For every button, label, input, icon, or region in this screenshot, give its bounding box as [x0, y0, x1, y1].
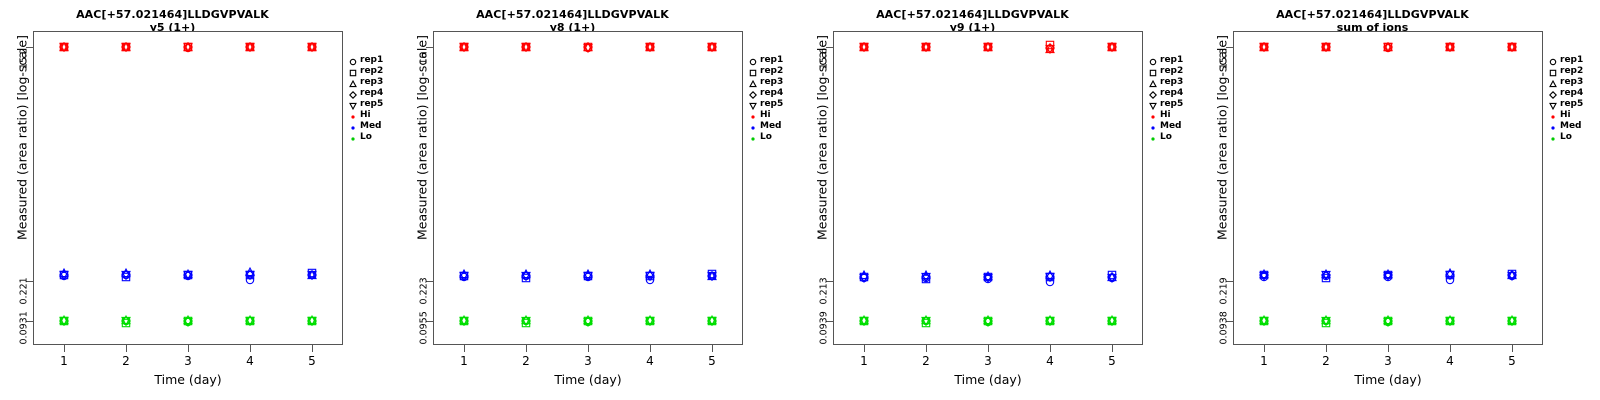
legend-item-label: Lo [358, 132, 372, 143]
legend-item-label: Lo [1158, 132, 1172, 143]
multi-panel-scatter-figure: AAC[+57.021464]LLDGVPVALKy5 (1+)Measured… [0, 0, 1600, 400]
dot-marker-icon [1147, 132, 1158, 143]
legend-item-rep5: rep5 [747, 98, 799, 109]
panel-4: AAC[+57.021464]LLDGVPVALKsum of ionsMeas… [1200, 0, 1600, 400]
legend-item-med: Med [1147, 120, 1199, 131]
dot-marker-icon [347, 132, 358, 143]
legend-item-rep4: rep4 [347, 87, 399, 98]
legend-item-rep4: rep4 [1547, 87, 1599, 98]
panel-1: AAC[+57.021464]LLDGVPVALKy5 (1+)Measured… [0, 0, 400, 400]
legend-item-rep4: rep4 [1147, 87, 1199, 98]
legend-item-rep1: rep1 [747, 54, 799, 65]
legend-item-rep3: rep3 [347, 76, 399, 87]
data-point-layer [400, 0, 800, 400]
legend-item-rep5: rep5 [347, 98, 399, 109]
legend-item-lo: Lo [347, 131, 399, 142]
legend: rep1rep2rep3rep4rep5HiMedLo [1147, 54, 1199, 142]
legend-item-rep3: rep3 [747, 76, 799, 87]
data-point-layer [0, 0, 400, 400]
legend-item-lo: Lo [1147, 131, 1199, 142]
legend-item-rep3: rep3 [1547, 76, 1599, 87]
legend-item-rep5: rep5 [1547, 98, 1599, 109]
legend-item-rep2: rep2 [747, 65, 799, 76]
legend-item-rep2: rep2 [1147, 65, 1199, 76]
legend-item-rep4: rep4 [747, 87, 799, 98]
dot-marker-icon [747, 132, 758, 143]
legend: rep1rep2rep3rep4rep5HiMedLo [1547, 54, 1599, 142]
legend-item-rep3: rep3 [1147, 76, 1199, 87]
legend-item-med: Med [347, 120, 399, 131]
legend-item-rep1: rep1 [347, 54, 399, 65]
legend: rep1rep2rep3rep4rep5HiMedLo [347, 54, 399, 142]
legend-item-hi: Hi [347, 109, 399, 120]
legend-item-label: Lo [1558, 132, 1572, 143]
legend-item-med: Med [1547, 120, 1599, 131]
legend-item-med: Med [747, 120, 799, 131]
legend-item-rep1: rep1 [1547, 54, 1599, 65]
legend-item-hi: Hi [747, 109, 799, 120]
data-point-layer [800, 0, 1200, 400]
legend-item-hi: Hi [1547, 109, 1599, 120]
legend-item-rep1: rep1 [1147, 54, 1199, 65]
data-point-layer [1200, 0, 1600, 400]
dot-marker-icon [1547, 132, 1558, 143]
legend-item-rep2: rep2 [1547, 65, 1599, 76]
legend-item-lo: Lo [747, 131, 799, 142]
legend-item-hi: Hi [1147, 109, 1199, 120]
legend-item-rep5: rep5 [1147, 98, 1199, 109]
legend-item-label: Lo [758, 132, 772, 143]
legend-item-lo: Lo [1547, 131, 1599, 142]
panel-3: AAC[+57.021464]LLDGVPVALKy9 (1+)Measured… [800, 0, 1200, 400]
panel-2: AAC[+57.021464]LLDGVPVALKy8 (1+)Measured… [400, 0, 800, 400]
legend: rep1rep2rep3rep4rep5HiMedLo [747, 54, 799, 142]
legend-item-rep2: rep2 [347, 65, 399, 76]
